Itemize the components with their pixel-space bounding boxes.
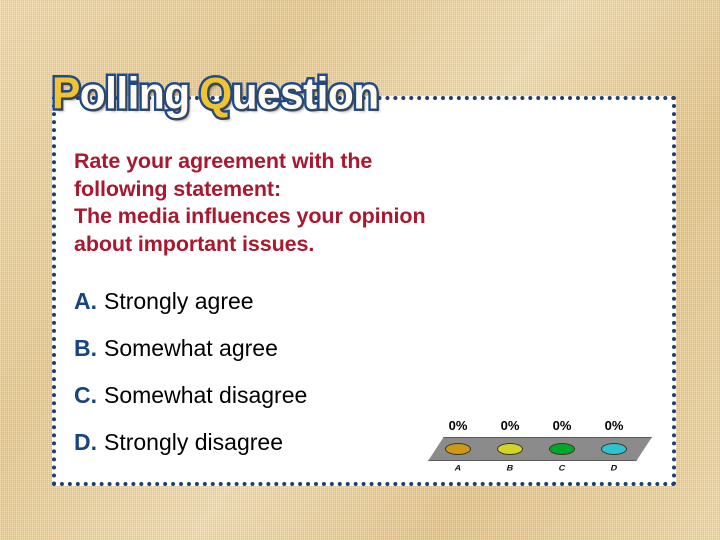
chart-value-b: 0% xyxy=(490,418,530,433)
chart-marker-a xyxy=(445,443,471,455)
chart-category-labels: A B C D xyxy=(424,463,656,479)
answer-option-a[interactable]: A.Strongly agree xyxy=(74,285,494,332)
question-line-3: The media influences your opinion xyxy=(74,203,544,231)
option-letter-c: C. xyxy=(74,382,97,408)
chart-marker-b xyxy=(497,443,523,455)
chart-marker-d xyxy=(601,443,627,455)
question-line-1: Rate your agreement with the xyxy=(74,148,544,176)
chart-value-d: 0% xyxy=(594,418,634,433)
chart-category-d: D xyxy=(603,464,625,473)
slide-canvas: PollingQuestion Rate your agreement with… xyxy=(0,0,720,540)
question-text: Rate your agreement with the following s… xyxy=(74,148,544,258)
question-line-4: about important issues. xyxy=(74,231,544,259)
option-letter-b: B. xyxy=(74,335,97,361)
option-letter-a: A. xyxy=(74,288,97,314)
chart-marker-c xyxy=(549,443,575,455)
option-label-c: Somewhat disagree xyxy=(104,382,307,408)
poll-results-chart: 0% 0% 0% 0% A B C D xyxy=(424,418,656,480)
option-label-a: Strongly agree xyxy=(104,288,254,314)
chart-value-a: 0% xyxy=(438,418,478,433)
answer-option-b[interactable]: B.Somewhat agree xyxy=(74,332,494,379)
chart-value-labels: 0% 0% 0% 0% xyxy=(424,418,656,436)
option-label-d: Strongly disagree xyxy=(104,429,283,455)
chart-category-b: B xyxy=(499,464,521,473)
chart-category-a: A xyxy=(447,464,469,473)
chart-value-c: 0% xyxy=(542,418,582,433)
option-letter-d: D. xyxy=(74,429,97,455)
question-line-2: following statement: xyxy=(74,176,544,204)
option-label-b: Somewhat agree xyxy=(104,335,278,361)
chart-category-c: C xyxy=(551,464,573,473)
